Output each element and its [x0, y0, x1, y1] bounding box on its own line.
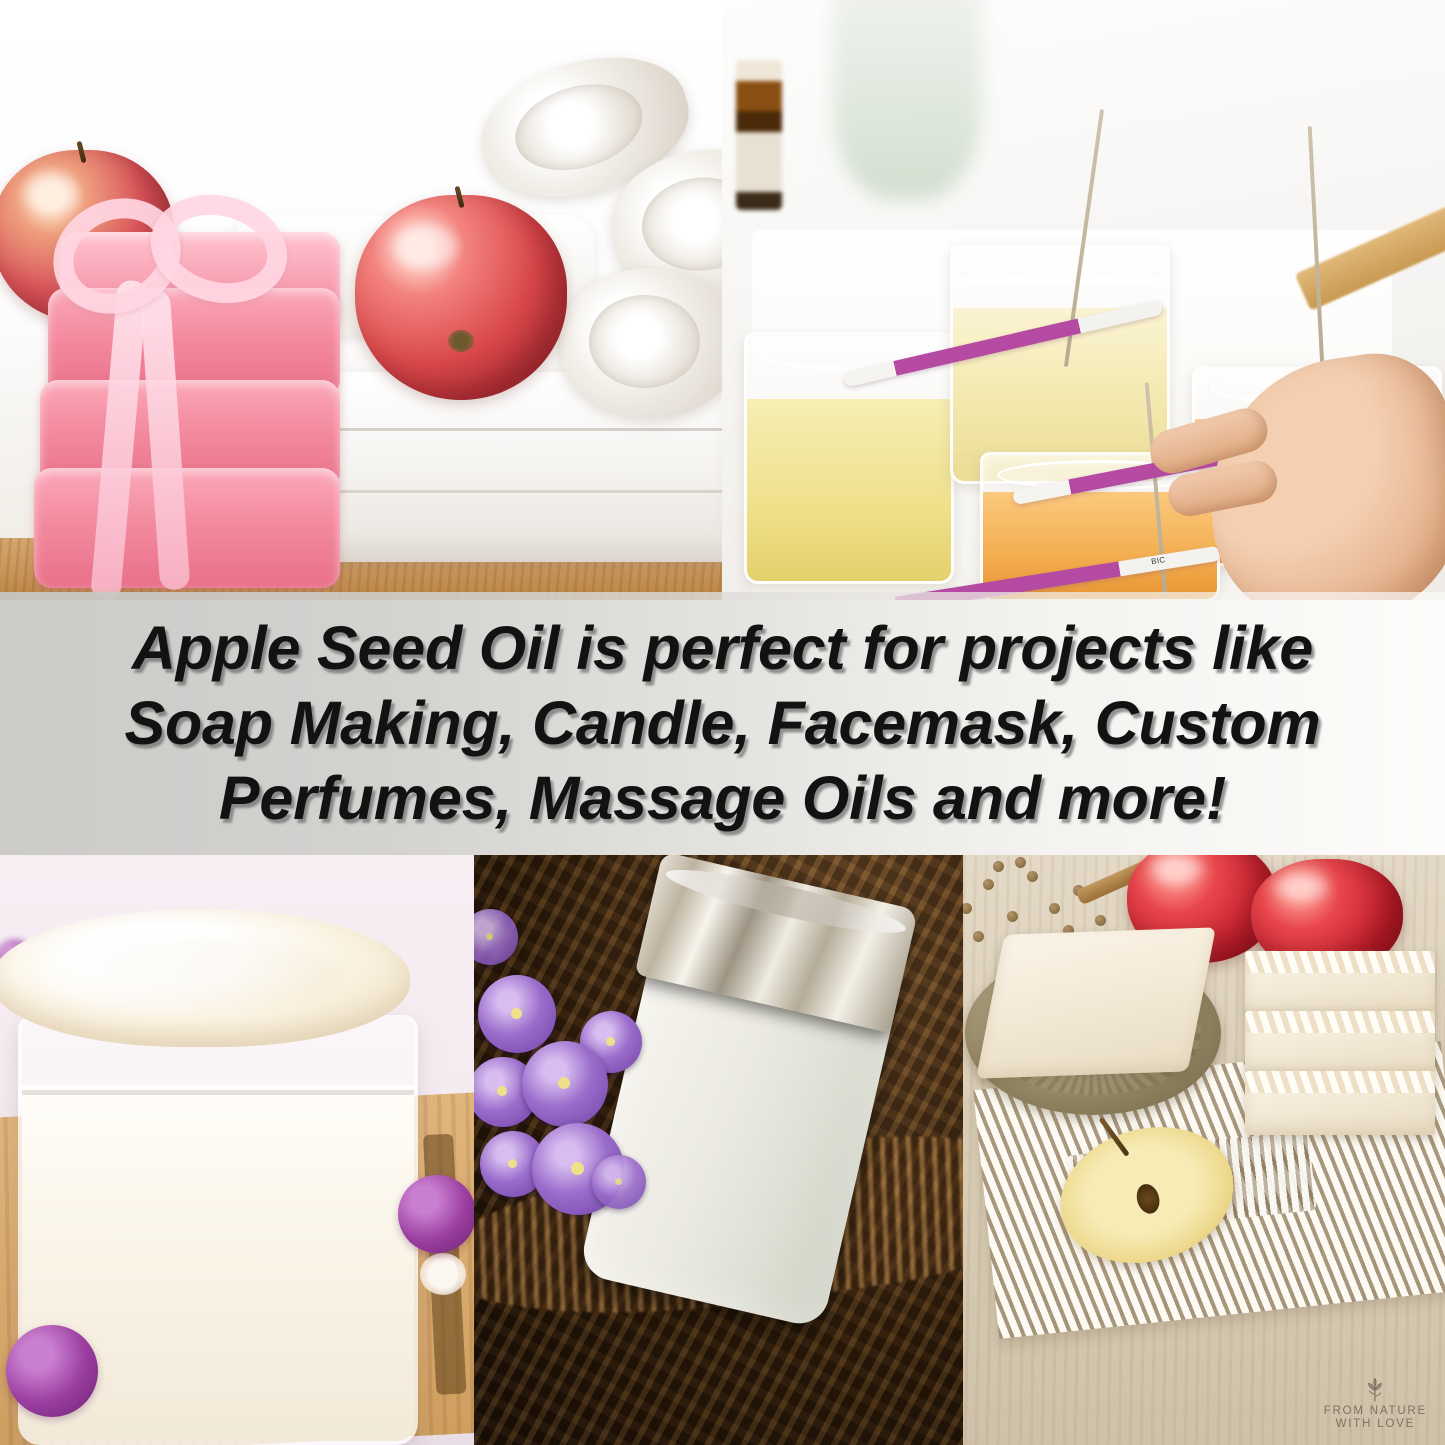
apple-highlight [1275, 873, 1327, 901]
lilac-flower-icon [522, 1041, 608, 1127]
apple-icon [355, 195, 567, 400]
banner-line-2: Soap Making, Candle, Facemask, Custom [125, 686, 1321, 761]
apple-highlight [25, 174, 80, 212]
soap-bars-apples-towels-photo [0, 0, 722, 600]
wax-jar [744, 332, 954, 584]
soap-bar [1245, 951, 1435, 1015]
pen-brand-label: BIC [1151, 555, 1166, 566]
dried-flower-icon [398, 1175, 474, 1253]
apple-core [1134, 1182, 1163, 1217]
background-bottle [832, 0, 982, 200]
whipped-butter-swirl [0, 909, 410, 1047]
rolled-towel-icon [560, 268, 722, 418]
banner-line-3: Perfumes, Massage Oils and more! [219, 761, 1226, 836]
soap-textured-top [1245, 1011, 1435, 1033]
white-candle-lilac-photo [474, 855, 963, 1445]
dried-flower-icon [420, 1253, 466, 1295]
soap-textured-top [1245, 1071, 1435, 1093]
apple-highlight [1151, 855, 1202, 884]
jar-rim [966, 252, 1154, 282]
candle-making-jars-photo: BIC BIC [722, 0, 1445, 600]
apple-calyx [448, 330, 474, 352]
handmade-soap-apples-photo: FROM NATURE WITH LOVE [963, 855, 1445, 1445]
apple-highlight [393, 224, 457, 269]
product-collage: BIC BIC [0, 0, 1445, 1445]
soap-bar [1245, 1071, 1435, 1135]
lilac-flower-icon [592, 1155, 646, 1209]
lilac-flower-icon [478, 975, 556, 1053]
soap-bar [976, 927, 1216, 1078]
banner-line-1: Apple Seed Oil is perfect for projects l… [132, 611, 1313, 686]
soap-bar [1245, 1011, 1435, 1075]
whipped-body-butter-jar-photo [0, 855, 474, 1445]
soap-textured-top [1245, 951, 1435, 973]
dried-flower-icon [6, 1325, 98, 1417]
melted-wax [747, 399, 951, 581]
essential-oil-bottle [736, 60, 782, 210]
promo-text-banner: Apple Seed Oil is perfect for projects l… [0, 592, 1445, 855]
wax-jar [950, 244, 1170, 484]
